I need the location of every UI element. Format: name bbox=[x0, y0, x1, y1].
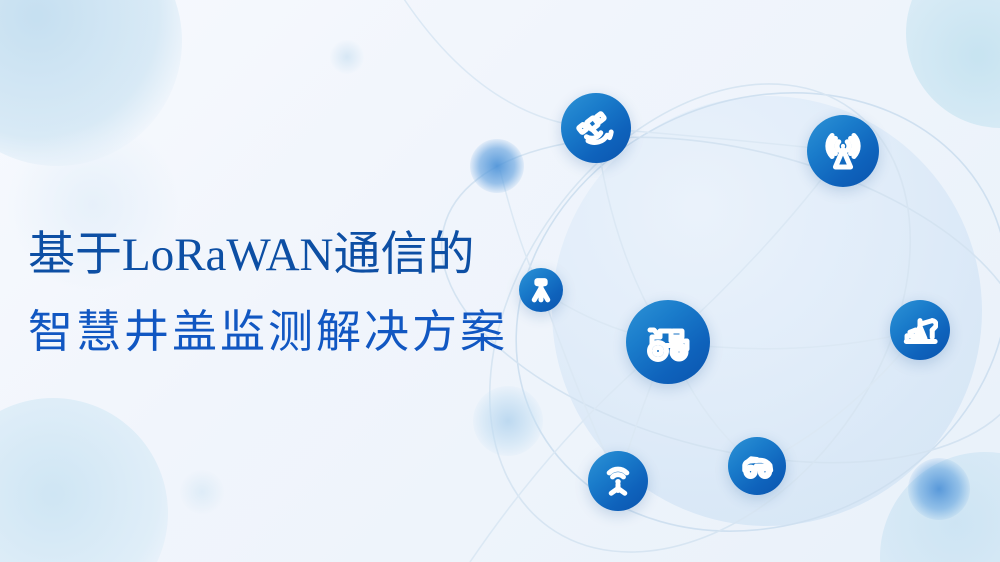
bokeh-dot-1 bbox=[470, 139, 524, 193]
radio-tower-icon bbox=[822, 130, 864, 172]
bokeh-dot-5 bbox=[180, 470, 224, 514]
bokeh-dot-3 bbox=[908, 458, 970, 520]
node-pumpjack[interactable] bbox=[890, 300, 950, 360]
title-block: 基于LoRaWAN通信的 智慧井盖监测解决方案 bbox=[28, 224, 588, 364]
title-line-1: 基于LoRaWAN通信的 bbox=[28, 224, 588, 286]
tractor-icon bbox=[643, 317, 693, 367]
node-sensor[interactable] bbox=[588, 451, 648, 511]
decorative-blob-bottom-right bbox=[880, 452, 1000, 562]
wireless-sensor-icon bbox=[601, 464, 635, 498]
title-line-2: 智慧井盖监测解决方案 bbox=[28, 300, 588, 364]
bokeh-dot-2 bbox=[473, 386, 543, 456]
rover-vehicle-icon bbox=[739, 448, 775, 484]
node-tractor[interactable] bbox=[626, 300, 710, 384]
satellite-dish-icon bbox=[576, 108, 616, 148]
node-rover[interactable] bbox=[728, 437, 786, 495]
bokeh-dot-4 bbox=[330, 40, 364, 74]
decorative-blob-top-right bbox=[906, 0, 1000, 128]
slide-canvas: 基于LoRaWAN通信的 智慧井盖监测解决方案 bbox=[0, 0, 1000, 562]
decorative-blob-top-left bbox=[0, 0, 182, 166]
node-antenna[interactable] bbox=[807, 115, 879, 187]
oil-pumpjack-icon bbox=[902, 312, 938, 348]
decorative-blob-bottom-left bbox=[0, 398, 168, 562]
node-satellite[interactable] bbox=[561, 93, 631, 163]
